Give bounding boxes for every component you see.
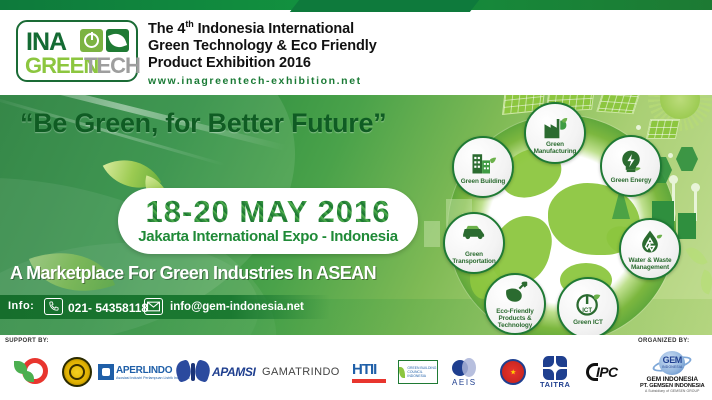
factory-silhouette (424, 221, 440, 247)
taitra-lockup: TAITRA (540, 356, 571, 389)
organizer-name: GEM INDONESIA (647, 376, 698, 383)
taitra-name: TAITRA (540, 380, 571, 389)
phone-number[interactable]: 021- 54358118 (68, 301, 148, 315)
gem-mark-subtext: INDONESIA (662, 365, 682, 369)
logo-tech-text: TECH (84, 53, 140, 79)
ipc-name: IPC (596, 364, 618, 380)
event-website[interactable]: www.inagreentech-exhibition.net (148, 75, 478, 87)
green-council-name: GREEN BUILDING COUNCIL INDONESIA (407, 366, 437, 378)
dot-decoration (668, 153, 673, 158)
envelope-icon (144, 298, 163, 315)
ordinal-suffix: th (185, 19, 193, 29)
header-diagonal-accent (290, 0, 490, 12)
sponsor-footer: SUPPORT BY: ORGANIZED BY: APERLINDO Asos… (0, 335, 712, 400)
sponsor-logo-ipc[interactable]: IPC (586, 351, 618, 393)
wind-turbine-hub (669, 175, 678, 184)
seal-inner-ring (69, 364, 85, 380)
aeis-mark-icon (452, 358, 476, 378)
sponsor-logo-butterfly[interactable] (176, 351, 210, 393)
event-venue: Jakarta International Expo - Indonesia (118, 228, 418, 245)
red-circle-icon: ★ (500, 359, 526, 385)
solar-panel-icon (596, 95, 642, 114)
building-silhouette (678, 213, 696, 239)
sector-node-green-manufacturing[interactable]: Green Manufacturing (524, 102, 586, 164)
butterfly-wing (192, 359, 212, 383)
sector-label: Green Manufacturing (527, 141, 583, 155)
sponsor-logo-gamatrindo[interactable]: GAMATRINDO (262, 351, 340, 393)
info-label: Info: (8, 300, 34, 312)
phone-icon (44, 298, 63, 315)
building-leaf-icon (469, 149, 497, 177)
exhibition-banner: Green ManufacturingGreen EnergyWater & W… (0, 0, 712, 400)
sponsor-logo-htii[interactable]: HTII (352, 351, 386, 393)
email-address[interactable]: info@gem-indonesia.net (170, 301, 304, 313)
event-title-line1-post: Indonesia International (194, 21, 354, 37)
taitra-petal (543, 356, 554, 367)
gem-lockup: GEM INDONESIA GEM INDONESIA PT. GEMSEN I… (640, 350, 705, 393)
aperlindo-mark-icon (98, 364, 114, 380)
car-icon (460, 222, 488, 250)
taitra-mark-icon (542, 356, 568, 380)
event-title-line1: The 4th Indonesia International (148, 16, 478, 38)
htii-lockup: HTII (352, 361, 386, 383)
htii-name: HTII (352, 361, 386, 378)
solar-panel-icon (646, 119, 680, 139)
lightbulb-bolt-icon (617, 148, 645, 176)
gem-mark-text: GEM (663, 356, 682, 365)
gem-planet-icon: GEM INDONESIA (652, 350, 692, 376)
sector-label: Green Building (455, 178, 511, 185)
bottom-info-bar: A Marketplace For Green Industries In AS… (0, 255, 712, 335)
organized-by-label: ORGANIZED BY: (638, 338, 689, 344)
factory-icon (541, 112, 569, 140)
sponsor-logo-aeis[interactable]: AEIS (452, 351, 477, 393)
ina-greentech-logo[interactable]: INA GREEN TECH (16, 20, 138, 82)
header: INA GREEN TECH The 4th Indonesia Interna… (0, 0, 712, 95)
event-dates: 18-20 MAY 2016 (118, 194, 418, 230)
green-council-mark-icon: GREEN BUILDING COUNCIL INDONESIA (398, 360, 438, 384)
butterfly-icon (176, 359, 210, 385)
taitra-petal (556, 356, 567, 367)
sponsor-logo-green-building-council[interactable]: GREEN BUILDING COUNCIL INDONESIA (398, 351, 438, 393)
butterfly-body (191, 363, 195, 381)
organizer-group: A Subsidiary of GEMSEN GROUP (645, 389, 699, 393)
marketplace-headline: A Marketplace For Green Industries In AS… (10, 263, 376, 284)
sponsor-logo-gear-leaf[interactable] (14, 351, 48, 393)
wind-turbine-hub (691, 183, 700, 192)
gem-planet-body: GEM INDONESIA (659, 351, 685, 375)
leaf-icon (399, 367, 405, 378)
date-plate: 18-20 MAY 2016 Jakarta International Exp… (118, 188, 418, 254)
hex-panel-icon (676, 147, 698, 171)
support-by-label: SUPPORT BY: (5, 338, 49, 344)
water-drop-recycle-icon (636, 228, 664, 256)
power-icon (84, 33, 99, 48)
sponsor-logo-apamsi[interactable]: APAMSI (212, 351, 255, 393)
dot-decoration (636, 125, 641, 130)
sponsor-logo-taitra[interactable]: TAITRA (540, 351, 571, 393)
sector-node-green-energy[interactable]: Green Energy (600, 135, 662, 197)
aeis-circle (462, 358, 476, 377)
sponsor-logo-red-circle[interactable]: ★ (500, 351, 526, 393)
htii-underline (352, 379, 386, 383)
event-title-line3: Product Exhibition 2016 (148, 55, 478, 72)
gamatrindo-name: GAMATRINDO (262, 366, 340, 378)
sector-node-green-building[interactable]: Green Building (452, 136, 514, 198)
sector-label: Green Energy (603, 177, 659, 184)
apamsi-name: APAMSI (212, 365, 255, 379)
taitra-petal (543, 369, 554, 380)
aeis-lockup: AEIS (452, 358, 477, 387)
aeis-name: AEIS (452, 378, 477, 387)
gear-leaf-icon (14, 357, 48, 387)
organizer-logo-gem[interactable]: GEM INDONESIA GEM INDONESIA PT. GEMSEN I… (640, 345, 705, 397)
tagline: “Be Green, for Better Future” (20, 108, 386, 139)
ipc-lockup: IPC (586, 363, 618, 381)
taitra-petal (556, 369, 567, 380)
sponsor-logo-seal[interactable] (62, 351, 92, 393)
seal-icon (62, 357, 92, 387)
event-title-line1-pre: The 4 (148, 21, 185, 37)
event-title-block: The 4th Indonesia International Green Te… (148, 16, 478, 87)
event-title-line2: Green Technology & Eco Friendly (148, 38, 478, 55)
